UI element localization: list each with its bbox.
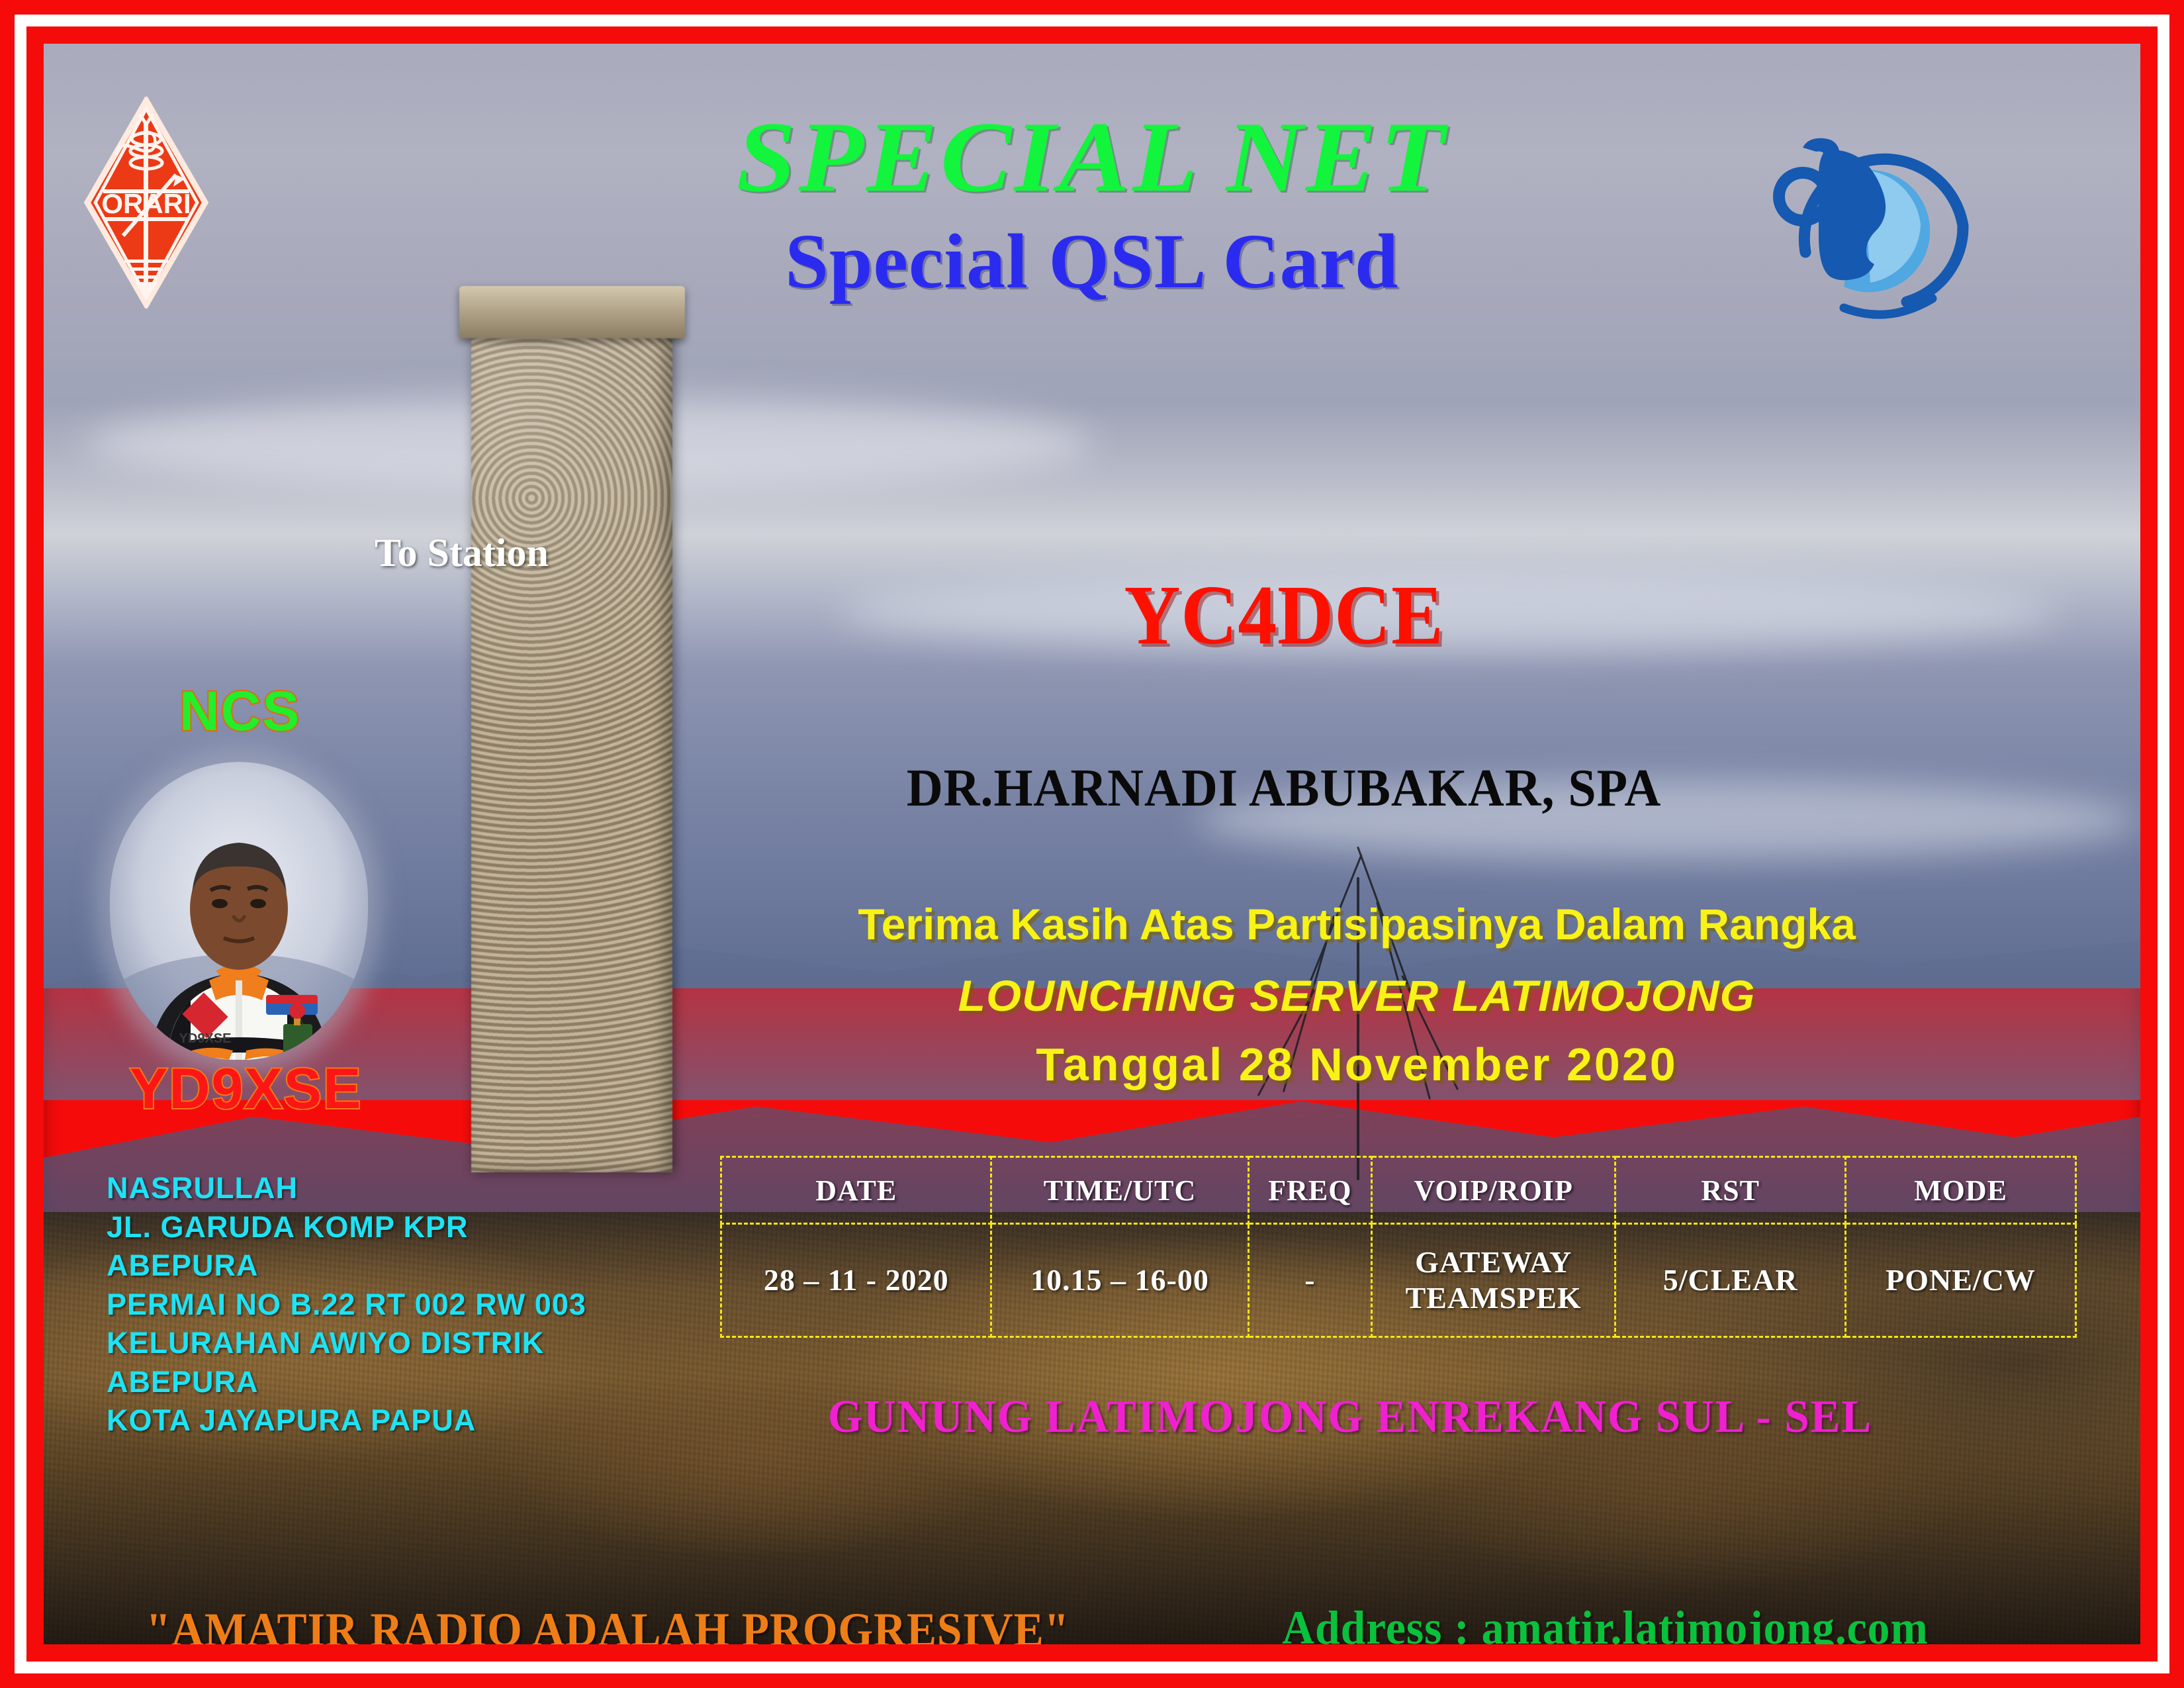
card-photo-area: ORARI SPECIAL NE <box>44 44 2140 1644</box>
cell-voip-line2: TEAMSPEK <box>1373 1280 1614 1316</box>
table-header-voip-roip: VOIP/ROIP <box>1372 1157 1615 1224</box>
qso-details-table: DATE TIME/UTC FREQ VOIP/ROIP RST MODE 28… <box>720 1156 2077 1338</box>
event-date-line: Tanggal 28 November 2020 <box>692 1038 2021 1091</box>
page-subtitle: Special QSL Card <box>44 222 2140 301</box>
event-title: LOUNCHING SERVER LATIMOJONG <box>672 970 2041 1021</box>
cell-rst: 5/CLEAR <box>1615 1224 1846 1337</box>
thanks-line: Terima Kasih Atas Partisipasinya Dalam R… <box>692 899 2021 949</box>
svg-text:YD9XSE: YD9XSE <box>179 1031 232 1046</box>
ncs-portrait-photo: YD9XSE <box>110 762 368 1060</box>
cell-voip-roip: GATEWAY TEAMSPEK <box>1372 1224 1615 1337</box>
table-header-freq: FREQ <box>1248 1157 1371 1224</box>
cell-time: 10.15 – 16-00 <box>991 1224 1248 1337</box>
ncs-address-block: NASRULLAH JL. GARUDA KOMP KPR ABEPURA PE… <box>107 1169 702 1440</box>
qsl-card: ORARI SPECIAL NE <box>0 0 2184 1688</box>
cell-voip-line1: GATEWAY <box>1373 1244 1614 1280</box>
motto-text: "AMATIR RADIO ADALAH PROGRESIVE" <box>146 1603 1070 1644</box>
station-callsign: YC4DCE <box>813 567 1755 664</box>
table-header-row: DATE TIME/UTC FREQ VOIP/ROIP RST MODE <box>721 1157 2076 1224</box>
table-header-date: DATE <box>721 1157 991 1224</box>
to-station-label: To Station <box>375 530 549 576</box>
table-header-time: TIME/UTC <box>991 1157 1248 1224</box>
address-line: JL. GARUDA KOMP KPR <box>107 1208 702 1247</box>
address-line: ABEPURA <box>107 1246 702 1286</box>
table-row: 28 – 11 - 2020 10.15 – 16-00 - GATEWAY T… <box>721 1224 2076 1337</box>
venue-line: GUNUNG LATIMOJONG ENREKANG SUL - SEL <box>706 1391 1995 1444</box>
address-line: NASRULLAH <box>107 1169 702 1208</box>
cell-date: 28 – 11 - 2020 <box>721 1224 991 1337</box>
operator-name: DR.HARNADI ABUBAKAR, SPA <box>722 759 1846 819</box>
table-header-mode: MODE <box>1846 1157 2076 1224</box>
address-line: PERMAI NO B.22 RT 002 RW 003 <box>107 1286 702 1325</box>
ncs-callsign: YD9XSE <box>130 1056 362 1122</box>
page-title: SPECIAL NET <box>44 107 2140 207</box>
cell-freq: - <box>1248 1224 1371 1337</box>
cell-mode: PONE/CW <box>1846 1224 2076 1337</box>
address-line: KELURAHAN AWIYO DISTRIK <box>107 1324 702 1363</box>
table-header-rst: RST <box>1615 1157 1846 1224</box>
address-line: ABEPURA <box>107 1363 702 1402</box>
address-line: KOTA JAYAPURA PAPUA <box>107 1401 702 1440</box>
ncs-role-label: NCS <box>179 679 300 743</box>
web-address: Address : amatir.latimojong.com <box>1282 1601 1929 1644</box>
